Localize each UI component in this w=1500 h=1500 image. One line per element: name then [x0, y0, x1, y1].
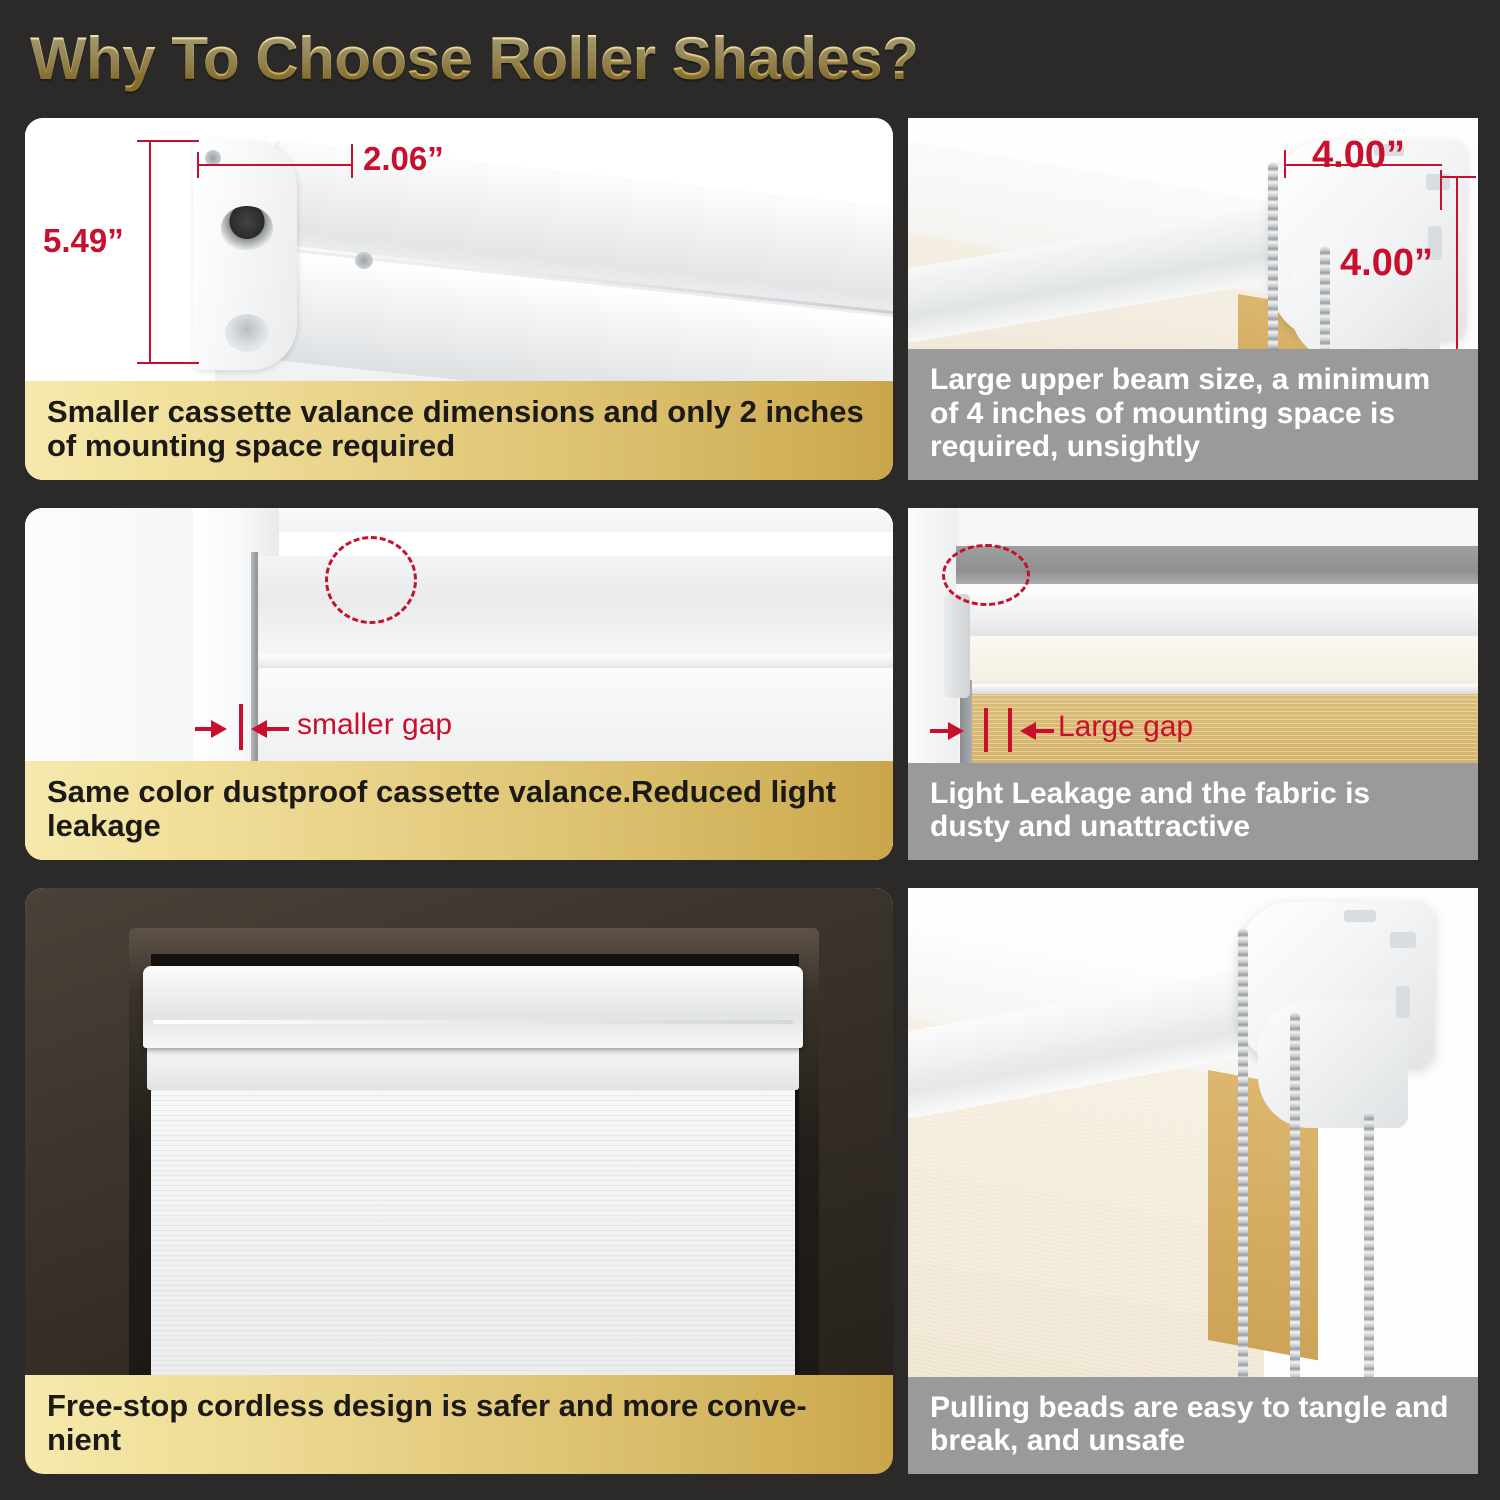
cassette-valance — [143, 966, 803, 1048]
gap-arrow-left-tail — [930, 729, 950, 733]
height-dimension-label: 5.49” — [43, 222, 124, 260]
panel-large-beam: 4.00” 4.00” Large upper beam size, a min… — [908, 118, 1478, 480]
gap-arrow-left-tail — [195, 727, 213, 731]
width-dimension-line — [197, 164, 353, 166]
bracket-height-tick-top — [1442, 176, 1476, 178]
width-dimension-tick-left — [197, 152, 199, 178]
height-dimension-tick-bottom — [137, 362, 199, 364]
gap-arrow-right-icon — [251, 720, 267, 738]
screw-icon — [225, 314, 269, 352]
bracket-slot-icon — [1396, 986, 1410, 1018]
panel-light-leakage: Large gap Light Leakage and the fabric i… — [908, 508, 1478, 860]
window-frame-top — [193, 508, 893, 532]
bracket-width-tick-left — [1284, 150, 1286, 178]
height-dimension-tick-top — [137, 140, 199, 142]
height-dimension-line — [149, 140, 151, 364]
bracket-slot-icon — [1390, 932, 1416, 948]
gap-arrow-right-icon — [1020, 722, 1036, 740]
panel-1-caption: Smaller cassette valance dimensions and … — [25, 381, 893, 480]
panel-3-caption: Same color dustproof cassette valance.Re… — [25, 761, 893, 860]
panel-4-caption: Light Leakage and the fabric is dusty an… — [908, 763, 1478, 860]
gap-callout-label: smaller gap — [297, 708, 452, 742]
bracket-height-dimension-line — [1456, 176, 1458, 372]
highlight-circle — [942, 544, 1030, 606]
panel-smaller-cassette: 5.49” 2.06” Smaller cassette valance dim… — [25, 118, 893, 480]
panel-cordless-design: Free-stop cordless design is safer and m… — [25, 888, 893, 1474]
mounting-bracket-lower — [1258, 1000, 1408, 1128]
width-dimension-tick-right — [351, 144, 353, 178]
panel-6-caption: Pulling beads are easy to tangle and bre… — [908, 1377, 1478, 1474]
bracket-slot-icon — [1344, 910, 1376, 922]
panel-5-caption: Free-stop cordless design is safer and m… — [25, 1375, 893, 1474]
valance-top-shadow — [956, 546, 1478, 588]
valance-front — [956, 584, 1478, 644]
bracket-height-label: 4.00” — [1340, 242, 1433, 285]
gap-callout-label: Large gap — [1058, 710, 1193, 744]
gap-arrow-left-icon — [211, 720, 227, 738]
gap-marker-bar — [239, 704, 243, 750]
gap-marker-bar — [984, 708, 988, 752]
gap-arrow-left-icon — [948, 722, 964, 740]
screw-icon — [355, 252, 373, 269]
infographic-root: Why To Choose Roller Shades? 5.49” 2.06”… — [0, 0, 1500, 1500]
panel-pulling-beads: Pulling beads are easy to tangle and bre… — [908, 888, 1478, 1474]
page-title: Why To Choose Roller Shades? — [30, 24, 918, 93]
width-dimension-label: 2.06” — [363, 140, 444, 178]
gap-arrow-right-tail — [1036, 729, 1054, 733]
bracket-width-label: 4.00” — [1312, 134, 1405, 177]
mounting-bracket — [944, 594, 970, 698]
gap-marker-bar — [1008, 708, 1012, 752]
highlight-circle — [325, 536, 417, 624]
roller-socket-icon — [221, 206, 273, 250]
panel-2-caption: Large upper beam size, a minimum of 4 in… — [908, 349, 1478, 480]
valance-lower — [964, 636, 1478, 688]
gap-arrow-right-tail — [267, 727, 289, 731]
bead-chain — [1238, 928, 1248, 1424]
bead-chain — [1290, 1012, 1300, 1424]
panel-dustproof-valance: smaller gap Same color dustproof cassett… — [25, 508, 893, 860]
